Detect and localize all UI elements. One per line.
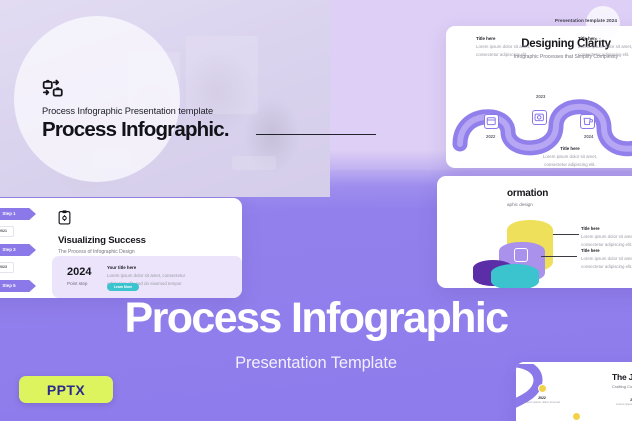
note-body: Lorem ipsum dolor sit amet, consectetur … (581, 255, 632, 270)
slide-card-bottom-left[interactable]: 2020 Step 1 Step 2 2021 2022 Step 3 Step… (0, 198, 242, 298)
note: Title here Lorem ipsum dolor sit amet, c… (581, 226, 632, 248)
note-body: Lorem ipsum dolor sit amet, consectetur … (581, 233, 632, 248)
window-icon (484, 114, 499, 129)
timeline-node (572, 412, 581, 421)
step-chevron[interactable]: Step 3 (0, 244, 36, 256)
hero-kicker: Process Infographic Presentation templat… (42, 106, 213, 116)
year-pill: 2023 (0, 262, 14, 273)
steps-column: 2020 Step 1 Step 2 2021 2022 Step 3 Step… (0, 198, 52, 298)
wave-note-body: Lorem ipsum dolor sit amet, consectetur … (578, 43, 632, 58)
year-pill-label: 2021 (0, 229, 13, 233)
leader-line (541, 256, 577, 257)
wave-note-title: Title here (476, 36, 538, 41)
step-chevron[interactable]: Step 1 (0, 208, 36, 220)
wave-note: Title here Lorem ipsum dolor sit amet, c… (530, 146, 610, 168)
note: Title here Lorem ipsum dolor sit amet, c… (581, 248, 632, 270)
timeline-node (538, 384, 547, 393)
step-label: Step 3 (0, 247, 30, 252)
slide-card-top-right[interactable]: Designing Clarity Infographic Processes … (446, 26, 632, 168)
pptx-badge[interactable]: PPTX (19, 376, 113, 403)
note-title: Title here (581, 226, 632, 231)
hero-title: Process Infographic. (42, 118, 229, 142)
step-chevron[interactable]: Step 5 (0, 280, 36, 292)
hero-underline (256, 134, 330, 135)
timeline-note: 2024 Lorem ipsum dolor sit amet (612, 398, 632, 406)
timeline-note: 2022 Lorem ipsum dolor sit amet (520, 396, 564, 404)
year-value: 2024 (67, 266, 91, 278)
hero-circle-decor (14, 16, 180, 182)
camera-icon (532, 110, 547, 125)
poster-canvas: ng Success graphic Design Your title her… (0, 0, 632, 421)
timeline-note-body: Lorem ipsum dolor sit amet (612, 402, 632, 406)
year-label: 2023 (536, 94, 545, 99)
page-title: ormation (507, 188, 548, 199)
step-label: Step 1 (0, 211, 30, 216)
page-subtitle: Crafting Compel (612, 384, 632, 389)
year-label: 2024 (584, 134, 593, 139)
summary-panel: 2024 Point step Your title here Lorem ip… (52, 256, 242, 298)
wave-note-body: Lorem ipsum dolor sit amet, consectetur … (476, 43, 538, 58)
point-step-label: Point step (67, 281, 87, 286)
wave-note: Title here Lorem ipsum dolor sit amet, c… (476, 36, 538, 58)
hero-slide-card[interactable]: Presentation template 2024 Process Infog… (0, 0, 330, 197)
year-label: 2022 (486, 134, 495, 139)
clipboard-icon (58, 210, 71, 225)
leader-line (553, 234, 579, 235)
learn-more-button[interactable]: Learn More (107, 283, 139, 291)
panel-note-title: Your title here (107, 265, 187, 270)
pptx-badge-label: PPTX (19, 382, 113, 398)
year-pill: 2021 (0, 226, 14, 237)
wave-note-title: Title here (530, 146, 610, 151)
learn-more-label: Learn More (107, 285, 139, 289)
cylinder-bar (491, 264, 539, 288)
page-title: Visualizing Success (58, 235, 168, 246)
slide-card-mid-right[interactable]: ormation aphic design Title here Lorem i… (437, 176, 632, 288)
process-transfer-icon (42, 78, 68, 100)
page-subtitle: aphic design (507, 202, 533, 207)
timeline-note-body: Lorem ipsum dolor sit amet (520, 400, 564, 404)
cylinder-icon (514, 248, 528, 262)
wave-diagram: 2022 2023 2024 2025 Title here Lorem ips… (446, 68, 632, 168)
note-title: Title here (581, 248, 632, 253)
page-title: The Jour (612, 372, 632, 382)
poster-subtitle: Presentation Template (0, 354, 632, 373)
wave-note-body: Lorem ipsum dolor sit amet, consectetur … (530, 153, 610, 168)
poster-title: Process Infographic (0, 297, 632, 340)
year-pill-label: 2023 (0, 265, 13, 269)
card-header: Visualizing Success The Process of Infog… (58, 210, 168, 255)
page-subtitle: The Process of Infographic Design (58, 249, 168, 255)
step-label: Step 5 (0, 283, 30, 288)
cup-icon (580, 114, 595, 129)
